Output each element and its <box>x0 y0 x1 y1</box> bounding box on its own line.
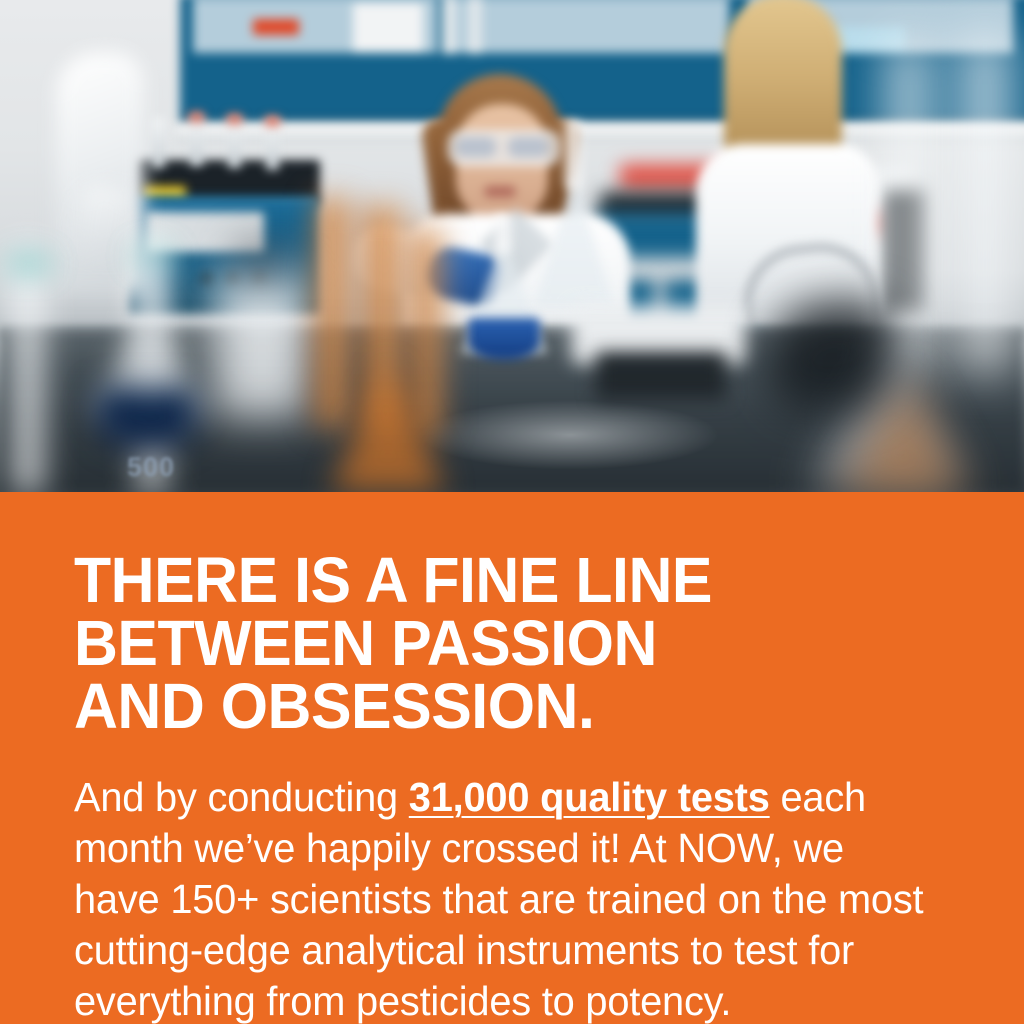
cabinet-tube <box>442 0 456 54</box>
background-scientist-left <box>56 52 144 292</box>
flask-volume-label: 500 <box>108 452 194 478</box>
dark-blue-liquid <box>96 388 200 450</box>
amber-flask <box>330 366 446 492</box>
body-copy-part-1: And by conducting <box>74 774 409 820</box>
test-tube-cap <box>227 114 242 124</box>
test-tube <box>190 116 203 166</box>
test-tube <box>228 118 241 168</box>
coiled-tubing <box>770 300 890 410</box>
tall-glass-cylinder <box>952 34 1018 374</box>
goggle-lens-right <box>508 137 548 157</box>
balance-base <box>596 352 726 400</box>
test-tube-cap <box>265 116 280 126</box>
lab-photo: 500 <box>0 0 1024 492</box>
graduated-cylinder <box>6 244 50 492</box>
flask-neck <box>562 120 584 190</box>
blue-liquid <box>468 318 540 360</box>
test-tube <box>152 118 165 168</box>
flask-neck <box>492 214 514 254</box>
goggle-lens-left <box>456 137 496 157</box>
safety-goggles-icon <box>448 130 560 166</box>
cabinet-tube <box>468 0 482 54</box>
social-post-card: 500 THERE IS A FINE LINE BETWEEN PASSION… <box>0 0 1024 1024</box>
body-copy: And by conducting 31,000 quality tests e… <box>74 772 924 1024</box>
bottle-cap <box>238 246 284 280</box>
cylinder-stopper <box>8 258 50 270</box>
cabinet-glass-pane <box>190 0 440 56</box>
test-tube-cap <box>189 112 204 122</box>
flask-neck <box>137 226 161 310</box>
mouth <box>484 186 516 197</box>
cabinet-box-white <box>353 3 423 53</box>
test-tube <box>266 120 279 170</box>
instrument-knob <box>200 272 214 286</box>
reagent-bottle <box>214 268 310 418</box>
orange-text-panel: THERE IS A FINE LINE BETWEEN PASSION AND… <box>0 492 1024 1024</box>
quality-tests-highlight: 31,000 quality tests <box>409 774 770 820</box>
cabinet-box-red <box>253 19 299 35</box>
volumetric-flask-center <box>534 176 614 306</box>
bench-reflection <box>420 400 720 470</box>
headline: THERE IS A FINE LINE BETWEEN PASSION AND… <box>74 549 929 738</box>
background-scientist-left-arm <box>73 183 134 260</box>
